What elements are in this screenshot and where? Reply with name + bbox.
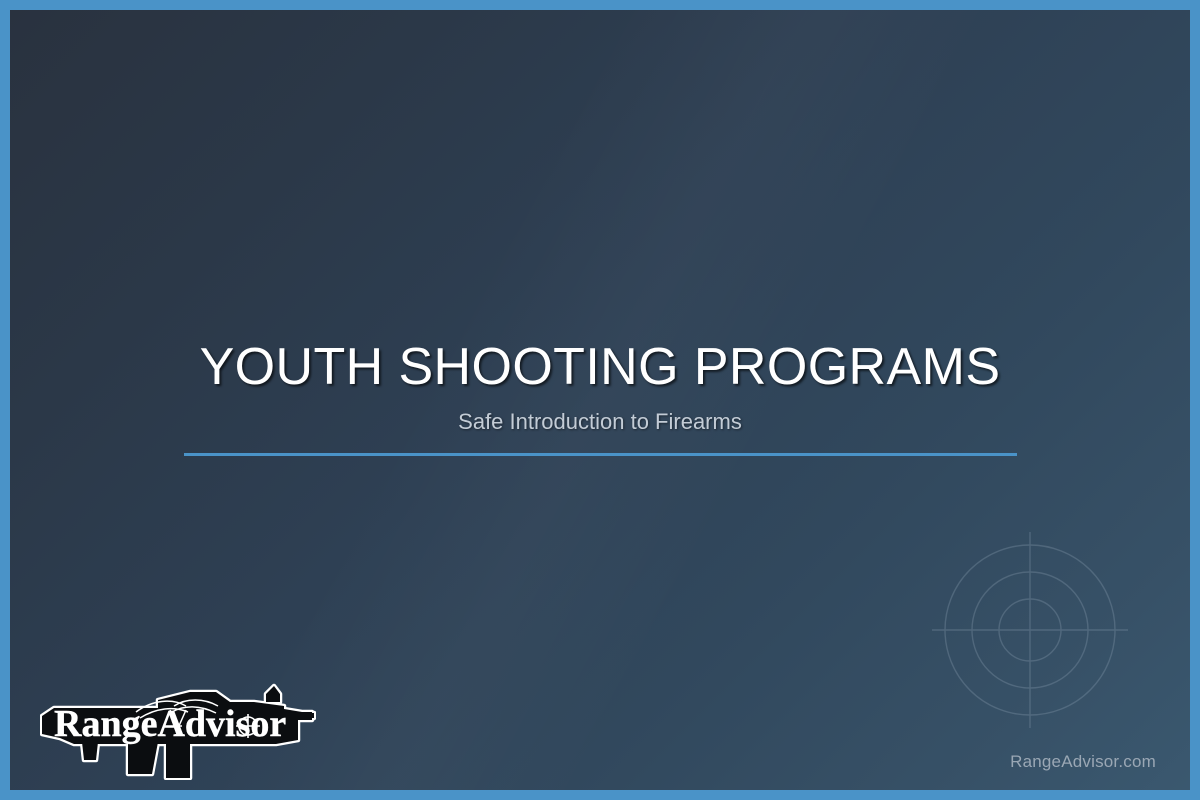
- page-subtitle: Safe Introduction to Firearms: [10, 409, 1190, 435]
- logo-wordmark: RangeAdvisor: [54, 703, 286, 745]
- presentation-slide: YOUTH SHOOTING PROGRAMS Safe Introductio…: [0, 0, 1200, 800]
- logo-wordmark-advisor: Advisor: [157, 703, 286, 745]
- page-title: YOUTH SHOOTING PROGRAMS: [10, 340, 1190, 395]
- logo-wordmark-range: Range: [54, 703, 157, 745]
- title-block: YOUTH SHOOTING PROGRAMS Safe Introductio…: [10, 340, 1190, 456]
- brand-logo: RangeAdvisor: [40, 682, 316, 780]
- accent-divider: [184, 453, 1017, 456]
- target-crosshair-icon: [930, 530, 1130, 730]
- footer-url: RangeAdvisor.com: [1010, 752, 1156, 772]
